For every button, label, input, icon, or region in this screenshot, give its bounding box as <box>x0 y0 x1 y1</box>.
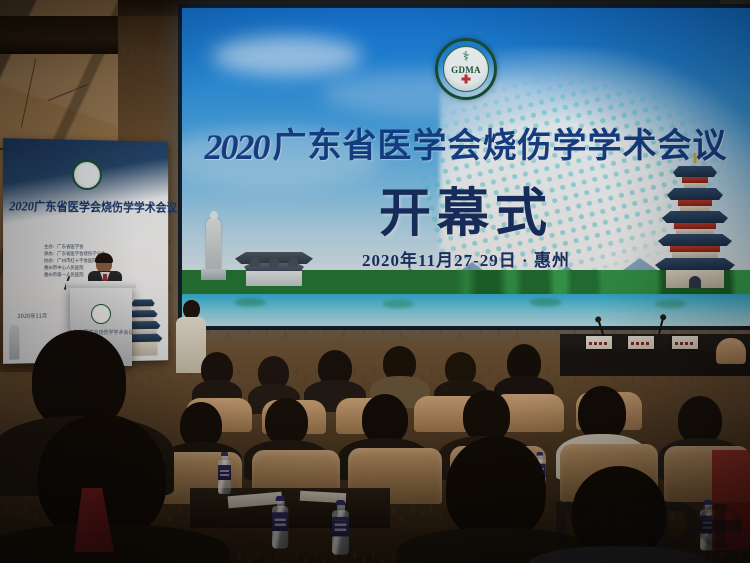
audience-member-front <box>548 466 688 563</box>
screen-conference-title: 广东省医学会烧伤学学术会议 <box>273 118 728 167</box>
pillar-dark-band <box>0 16 118 54</box>
bottle-label <box>332 517 349 537</box>
banner-emblem-icon <box>72 160 102 190</box>
head-table-chair <box>716 338 746 364</box>
gdma-emblem-icon: ⚕ GDMA <box>435 38 497 100</box>
pagoda-tower <box>654 162 736 292</box>
banner-title: 2020广东省医学会烧伤学学术会议 <box>9 197 154 215</box>
traditional-gate <box>240 252 308 286</box>
scholar-statue <box>206 218 221 270</box>
bottle-label <box>218 465 231 480</box>
screen-year: 2020 <box>205 126 269 168</box>
red-clothing <box>712 450 750 550</box>
banner-date: 2020年11月 <box>17 312 47 319</box>
conference-photo-stage: ⚕ GDMA 2020广东省医学会烧伤学学术会议 开幕式 2020年11月27-… <box>0 0 750 563</box>
podium-emblem-icon <box>91 304 111 324</box>
name-card <box>672 336 698 349</box>
name-card <box>628 336 654 349</box>
audience-table <box>190 488 390 528</box>
medical-cross-icon <box>462 75 471 84</box>
name-card <box>586 336 612 349</box>
banner-year: 2020 <box>9 198 34 213</box>
presenter-hair <box>95 253 113 263</box>
caduceus-glyph: ⚕ <box>462 49 469 62</box>
banner-title-text: 广东省医学会烧伤学学术会议 <box>34 199 177 214</box>
organizer-line: 主办：广东省医学会 <box>44 244 105 251</box>
led-screen: ⚕ GDMA 2020广东省医学会烧伤学学术会议 开幕式 2020年11月27-… <box>182 8 750 326</box>
bottle-label <box>272 512 288 531</box>
screen-title-row: 2020广东省医学会烧伤学学术会议 <box>182 118 750 168</box>
water-reflection <box>182 296 750 312</box>
